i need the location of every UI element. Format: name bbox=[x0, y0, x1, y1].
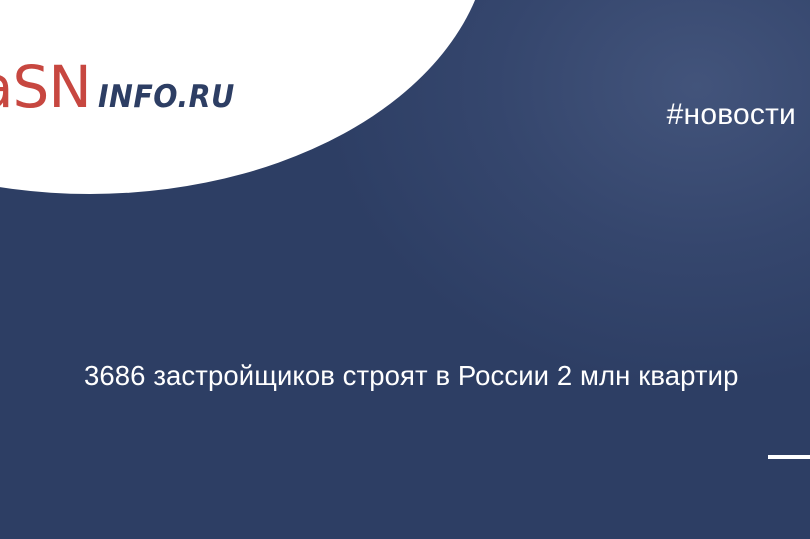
accent-rule bbox=[768, 455, 810, 459]
news-card: aSN INFO.RU #новости 3686 застройщиков с… bbox=[0, 0, 810, 539]
headline-text: 3686 застройщиков строят в России 2 млн … bbox=[84, 358, 782, 393]
logo-suffix-text: INFO.RU bbox=[98, 82, 235, 113]
hashtag-label[interactable]: #новости bbox=[667, 100, 796, 130]
site-logo[interactable]: aSN INFO.RU bbox=[0, 58, 240, 116]
logo-mark-text: aSN bbox=[0, 58, 91, 116]
